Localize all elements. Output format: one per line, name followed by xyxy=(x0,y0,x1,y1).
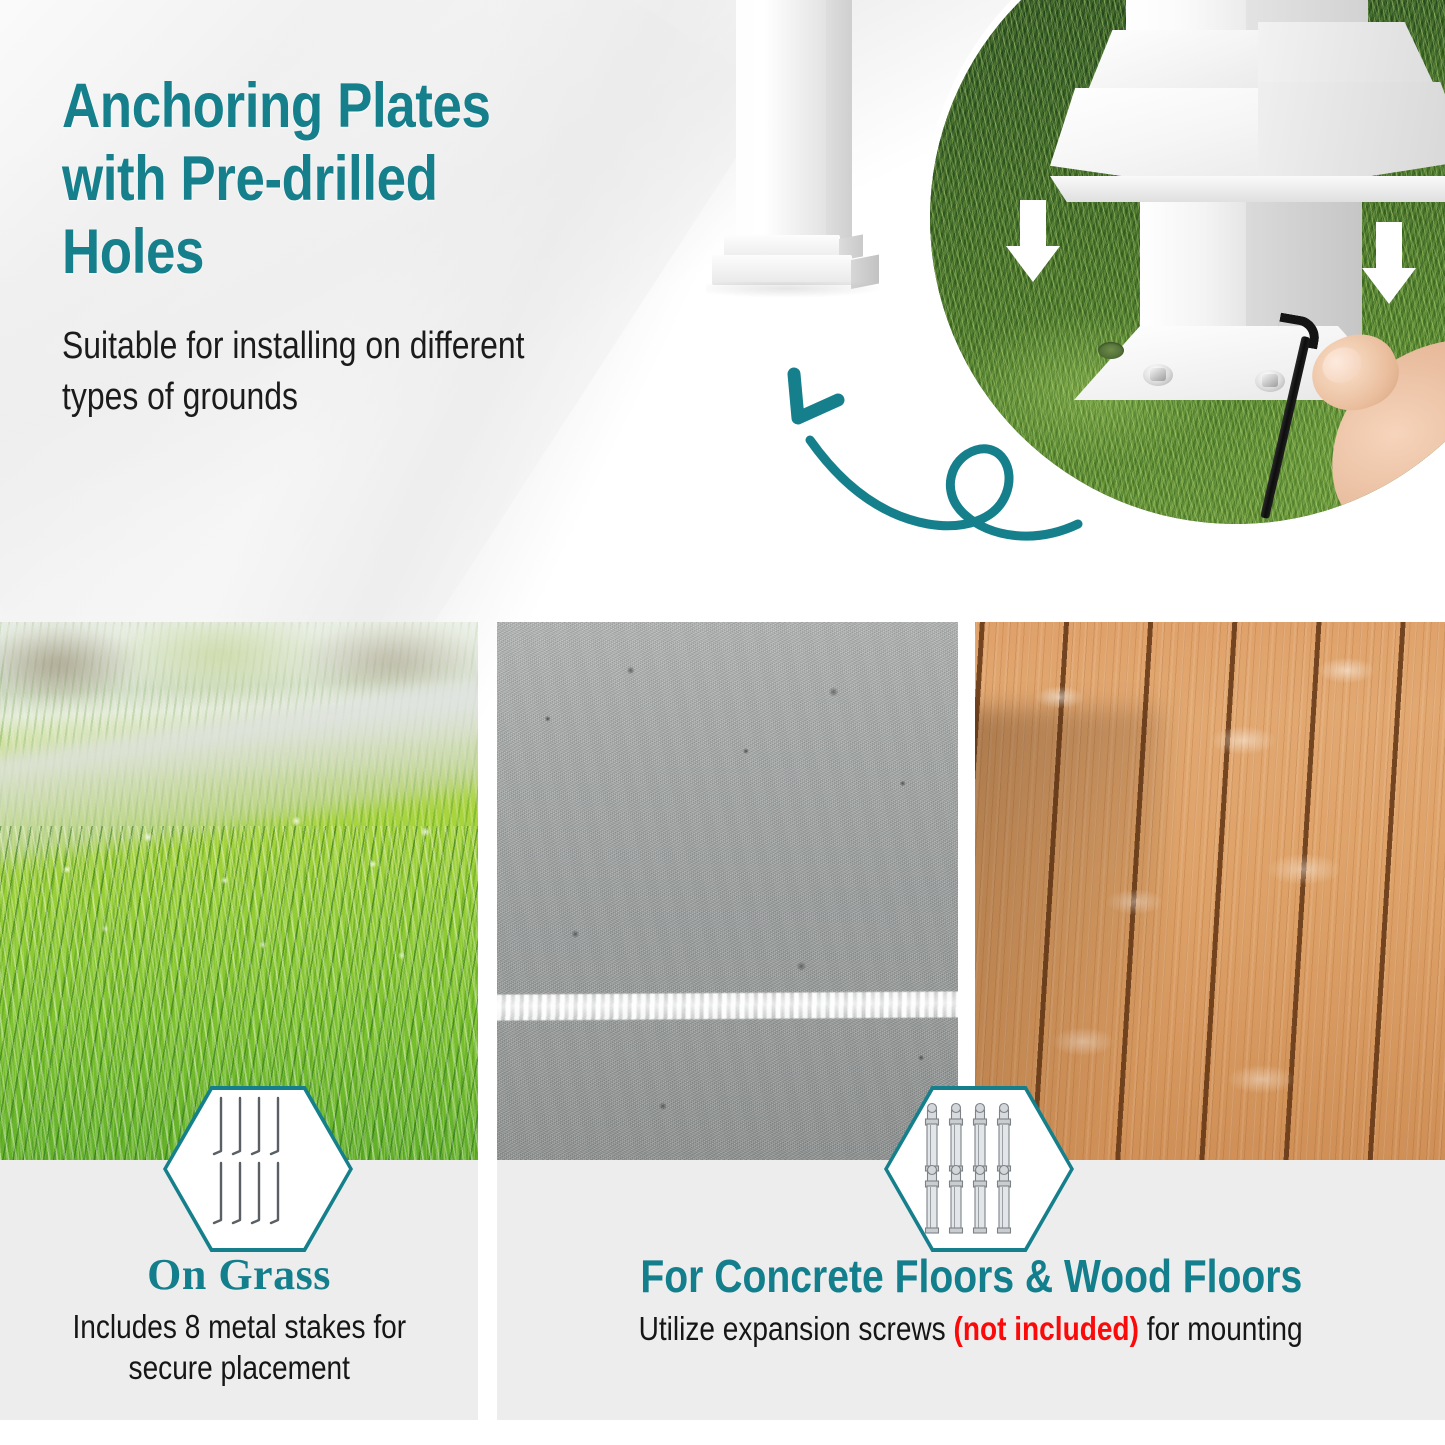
photo-plate-bolt xyxy=(1255,370,1285,392)
caption-body-grass: Includes 8 metal stakes for secure place… xyxy=(72,1306,406,1389)
caption-body-suffix: for mounting xyxy=(1139,1310,1303,1347)
caption-title-grass: On Grass xyxy=(147,1252,331,1298)
concrete-painted-line xyxy=(497,992,958,1021)
concrete-photo-texture xyxy=(497,622,958,1160)
ground-photo-wood xyxy=(975,622,1445,1160)
hero-text-block: Anchoring Plates with Pre-drilled Holes … xyxy=(62,70,742,422)
post-shaft xyxy=(736,0,828,240)
caption-body-concrete-wood: Utilize expansion screws (not included) … xyxy=(639,1308,1303,1349)
photo-post-skirt-edge xyxy=(1050,176,1445,202)
curved-arrow-icon xyxy=(768,348,1098,558)
page-title: Anchoring Plates with Pre-drilled Holes xyxy=(62,70,633,289)
not-included-highlight: (not included) xyxy=(954,1310,1139,1347)
page-subtitle: Suitable for installing on different typ… xyxy=(62,321,633,422)
badge-expansion-screws xyxy=(884,1086,1074,1252)
ground-photo-grass xyxy=(0,622,478,1160)
infographic-canvas: Anchoring Plates with Pre-drilled Holes … xyxy=(0,0,1445,1445)
badge-metal-stakes xyxy=(163,1086,353,1252)
post-shaft-side xyxy=(826,0,852,242)
expansion-screws-icon xyxy=(884,1086,1074,1252)
caption-body-prefix: Utilize expansion screws xyxy=(639,1310,954,1347)
ground-photo-concrete xyxy=(497,622,958,1160)
grass-photo-highlights xyxy=(0,622,478,1160)
caption-title-concrete-wood: For Concrete Floors & Wood Floors xyxy=(640,1252,1302,1300)
photo-plate-bolt xyxy=(1143,364,1173,386)
metal-stakes-icon xyxy=(163,1086,353,1252)
photo-plate-hole xyxy=(1098,342,1124,359)
